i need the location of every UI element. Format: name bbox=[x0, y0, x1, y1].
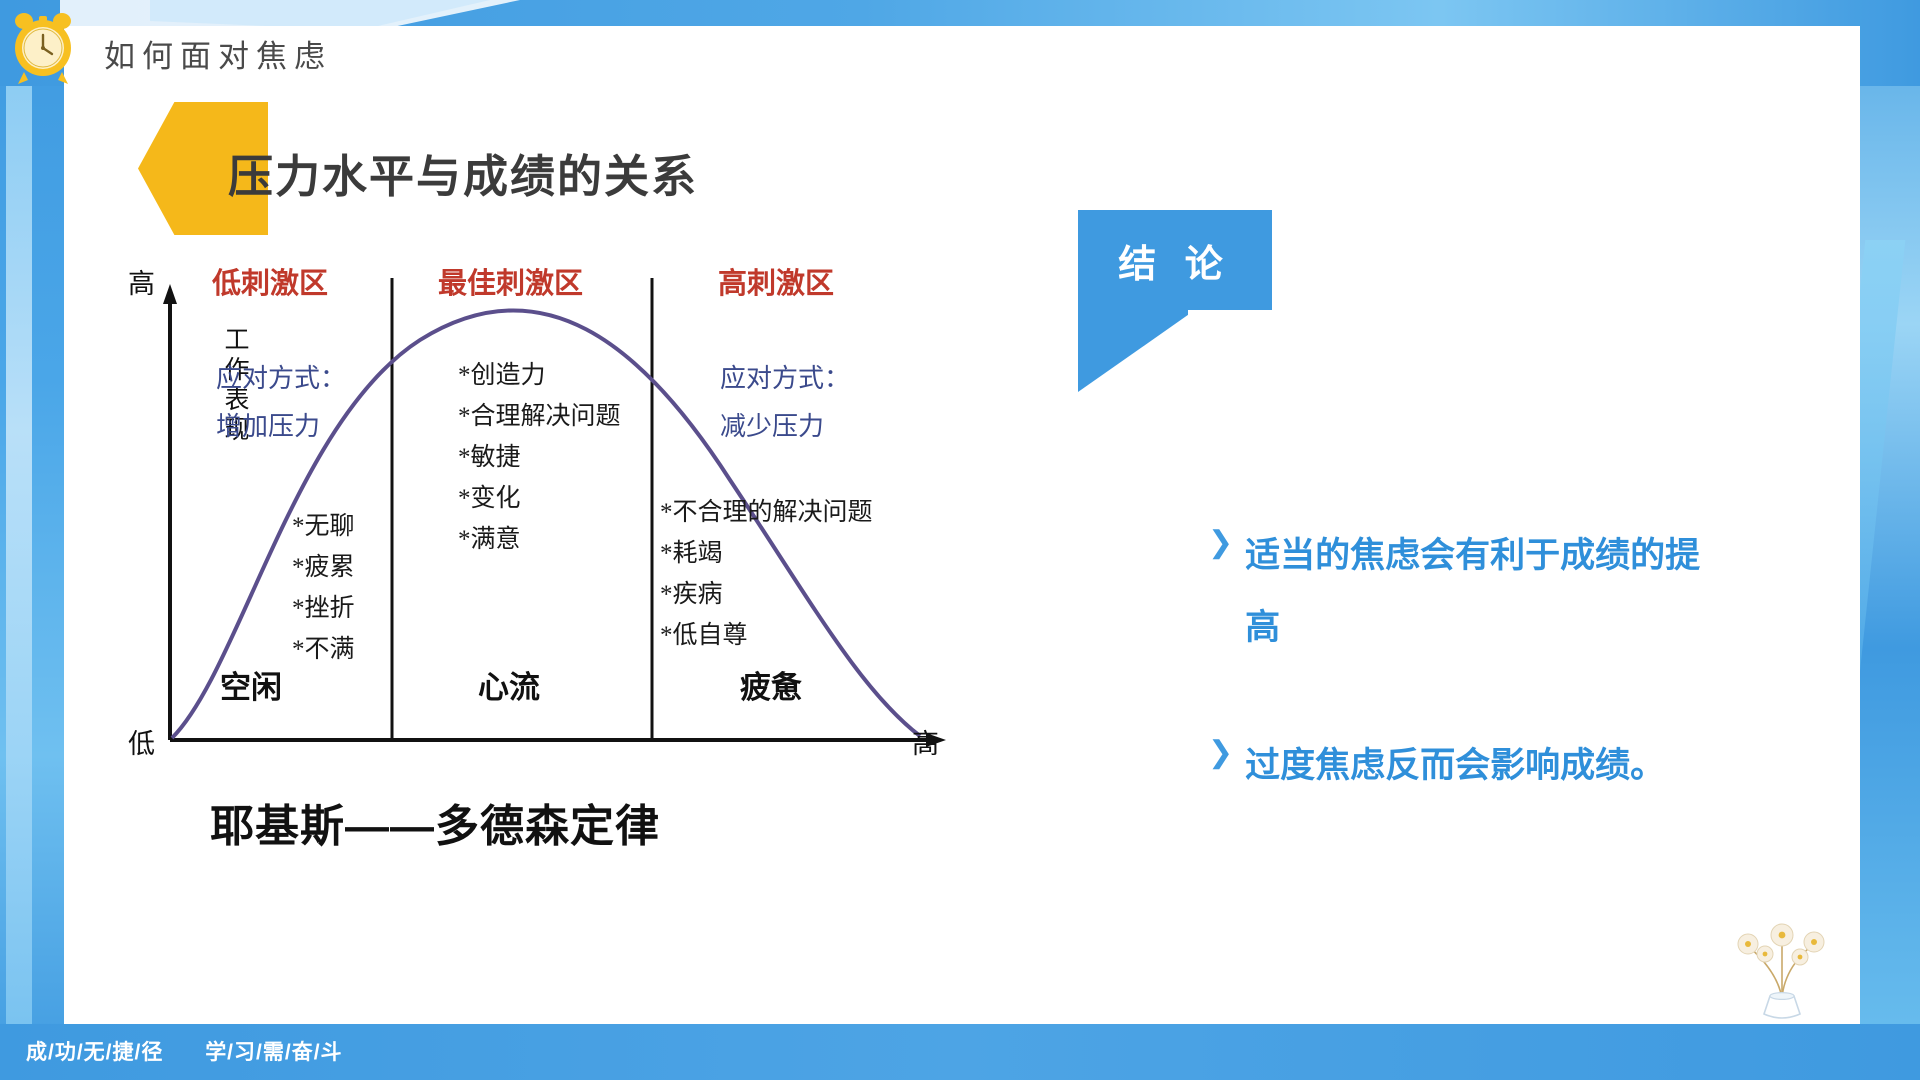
list-item: *不满 bbox=[292, 629, 355, 665]
yerkes-dodson-chart: 高 低 高 工作表现 低刺激区 最佳刺激区 高刺激区 应对方式： 增加压力 *无… bbox=[120, 270, 1160, 1010]
y-axis-high-label: 高 bbox=[128, 262, 155, 301]
x-axis-high-label: 高 bbox=[912, 722, 939, 761]
flower-vase-icon bbox=[1722, 902, 1842, 1020]
footer-slogan: 成/功/无/捷/径 学/习/需/奋/斗 bbox=[26, 1036, 379, 1066]
arrow-bullet-icon: ❯ bbox=[1208, 730, 1233, 776]
list-item: *满意 bbox=[458, 519, 521, 555]
slide-header: 如何面对焦虑 bbox=[64, 26, 1860, 82]
coping-label-high-zone: 应对方式： bbox=[720, 358, 850, 395]
state-label-idle: 空闲 bbox=[220, 662, 282, 707]
list-item: *创造力 bbox=[458, 355, 546, 391]
state-label-flow: 心流 bbox=[478, 662, 540, 707]
list-item: *耗竭 bbox=[660, 533, 723, 569]
list-item: *挫折 bbox=[292, 588, 355, 624]
arrow-bullet-icon: ❯ bbox=[1208, 520, 1233, 566]
left-decorative-band bbox=[0, 0, 64, 1080]
conclusion-text: 过度焦虑反而会影响成绩。 bbox=[1245, 730, 1665, 802]
alarm-clock-icon bbox=[10, 10, 76, 84]
list-item: *敏捷 bbox=[458, 437, 521, 473]
zone-heading-optimal: 最佳刺激区 bbox=[438, 260, 583, 302]
footer-slogan-right: 学/习/需/奋/斗 bbox=[205, 1041, 342, 1064]
conclusion-badge-label: 结 论 bbox=[1078, 210, 1272, 310]
list-item: *无聊 bbox=[292, 506, 355, 542]
coping-value-high-zone: 减少压力 bbox=[720, 406, 824, 443]
list-item: *合理解决问题 bbox=[458, 396, 621, 432]
list-item: *疾病 bbox=[660, 574, 723, 610]
slide-title: 压力水平与成绩的关系 bbox=[228, 140, 698, 205]
list-item: ❯ 适当的焦虑会有利于成绩的提高 bbox=[1208, 520, 1715, 664]
coping-value-low-zone: 增加压力 bbox=[216, 406, 320, 443]
list-item: *变化 bbox=[458, 478, 521, 514]
list-item: *疲累 bbox=[292, 547, 355, 583]
y-axis-low-label: 低 bbox=[128, 722, 155, 761]
coping-label-low-zone: 应对方式： bbox=[216, 358, 346, 395]
list-item: *低自尊 bbox=[660, 615, 748, 651]
list-item: ❯ 过度焦虑反而会影响成绩。 bbox=[1208, 730, 1665, 802]
left-decorative-stripe bbox=[6, 0, 32, 1080]
header-title: 如何面对焦虑 bbox=[104, 31, 332, 76]
zone-heading-high: 高刺激区 bbox=[718, 260, 834, 302]
list-item: *不合理的解决问题 bbox=[660, 492, 873, 528]
zone-heading-low: 低刺激区 bbox=[212, 260, 328, 302]
chart-caption: 耶基斯——多德森定律 bbox=[210, 790, 660, 854]
state-label-burnout: 疲惫 bbox=[740, 662, 802, 707]
conclusion-text: 适当的焦虑会有利于成绩的提高 bbox=[1245, 520, 1715, 664]
footer-slogan-left: 成/功/无/捷/径 bbox=[26, 1041, 163, 1064]
